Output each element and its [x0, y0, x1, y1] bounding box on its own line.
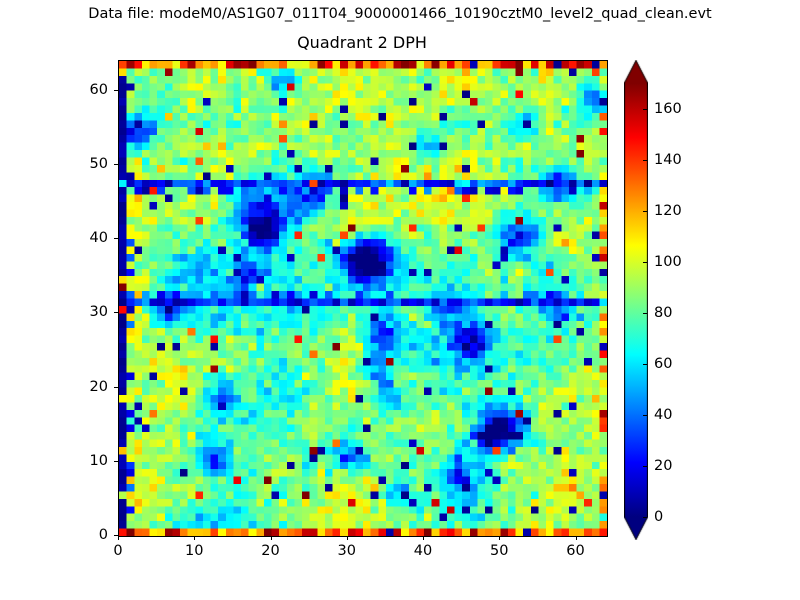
colorbar-tick-label: 40	[654, 407, 672, 423]
x-tick-label: 20	[261, 543, 279, 559]
colorbar-tick-label: 140	[654, 152, 682, 168]
x-tick-label: 60	[566, 543, 584, 559]
x-tick-mark	[194, 536, 195, 540]
y-tick-label: 10	[70, 453, 108, 469]
y-tick-label: 60	[70, 82, 108, 98]
colorbar-tick-mark	[643, 109, 647, 110]
y-tick-mark	[114, 387, 118, 388]
y-tick-label: 50	[70, 156, 108, 172]
colorbar-tick-label: 80	[654, 305, 672, 321]
y-tick-mark	[114, 90, 118, 91]
x-tick-label: 40	[414, 543, 432, 559]
x-tick-label: 0	[113, 543, 122, 559]
colorbar-gradient	[624, 60, 648, 540]
x-tick-mark	[271, 536, 272, 540]
y-tick-mark	[114, 238, 118, 239]
colorbar-tick-mark	[643, 313, 647, 314]
y-tick-label: 40	[70, 230, 108, 246]
y-tick-label: 20	[70, 379, 108, 395]
x-tick-mark	[576, 536, 577, 540]
heatmap-axes[interactable]	[118, 60, 608, 537]
chart-title: Quadrant 2 DPH	[118, 33, 606, 52]
colorbar-tick-mark	[643, 364, 647, 365]
y-tick-mark	[114, 312, 118, 313]
data-file-label: Data file: modeM0/AS1G07_011T04_90000014…	[0, 6, 800, 22]
colorbar-tick-mark	[643, 211, 647, 212]
x-tick-label: 50	[490, 543, 508, 559]
y-tick-label: 30	[70, 304, 108, 320]
x-tick-mark	[423, 536, 424, 540]
colorbar-tick-label: 20	[654, 458, 672, 474]
colorbar-tick-label: 120	[654, 203, 682, 219]
x-tick-mark	[499, 536, 500, 540]
x-tick-label: 10	[185, 543, 203, 559]
colorbar-tick-mark	[643, 415, 647, 416]
colorbar-tick-label: 0	[654, 509, 663, 525]
colorbar-tick-mark	[643, 262, 647, 263]
colorbar-tick-mark	[643, 466, 647, 467]
x-tick-label: 30	[338, 543, 356, 559]
x-tick-mark	[118, 536, 119, 540]
y-tick-mark	[114, 535, 118, 536]
colorbar-tick-label: 160	[654, 101, 682, 117]
colorbar-tick-label: 100	[654, 254, 682, 270]
y-tick-mark	[114, 164, 118, 165]
heatmap-image[interactable]	[119, 61, 607, 536]
colorbar[interactable]	[624, 60, 648, 540]
colorbar-tick-mark	[643, 517, 647, 518]
colorbar-tick-mark	[643, 160, 647, 161]
y-tick-mark	[114, 461, 118, 462]
x-tick-mark	[347, 536, 348, 540]
colorbar-tick-label: 60	[654, 356, 672, 372]
y-tick-label: 0	[70, 527, 108, 543]
